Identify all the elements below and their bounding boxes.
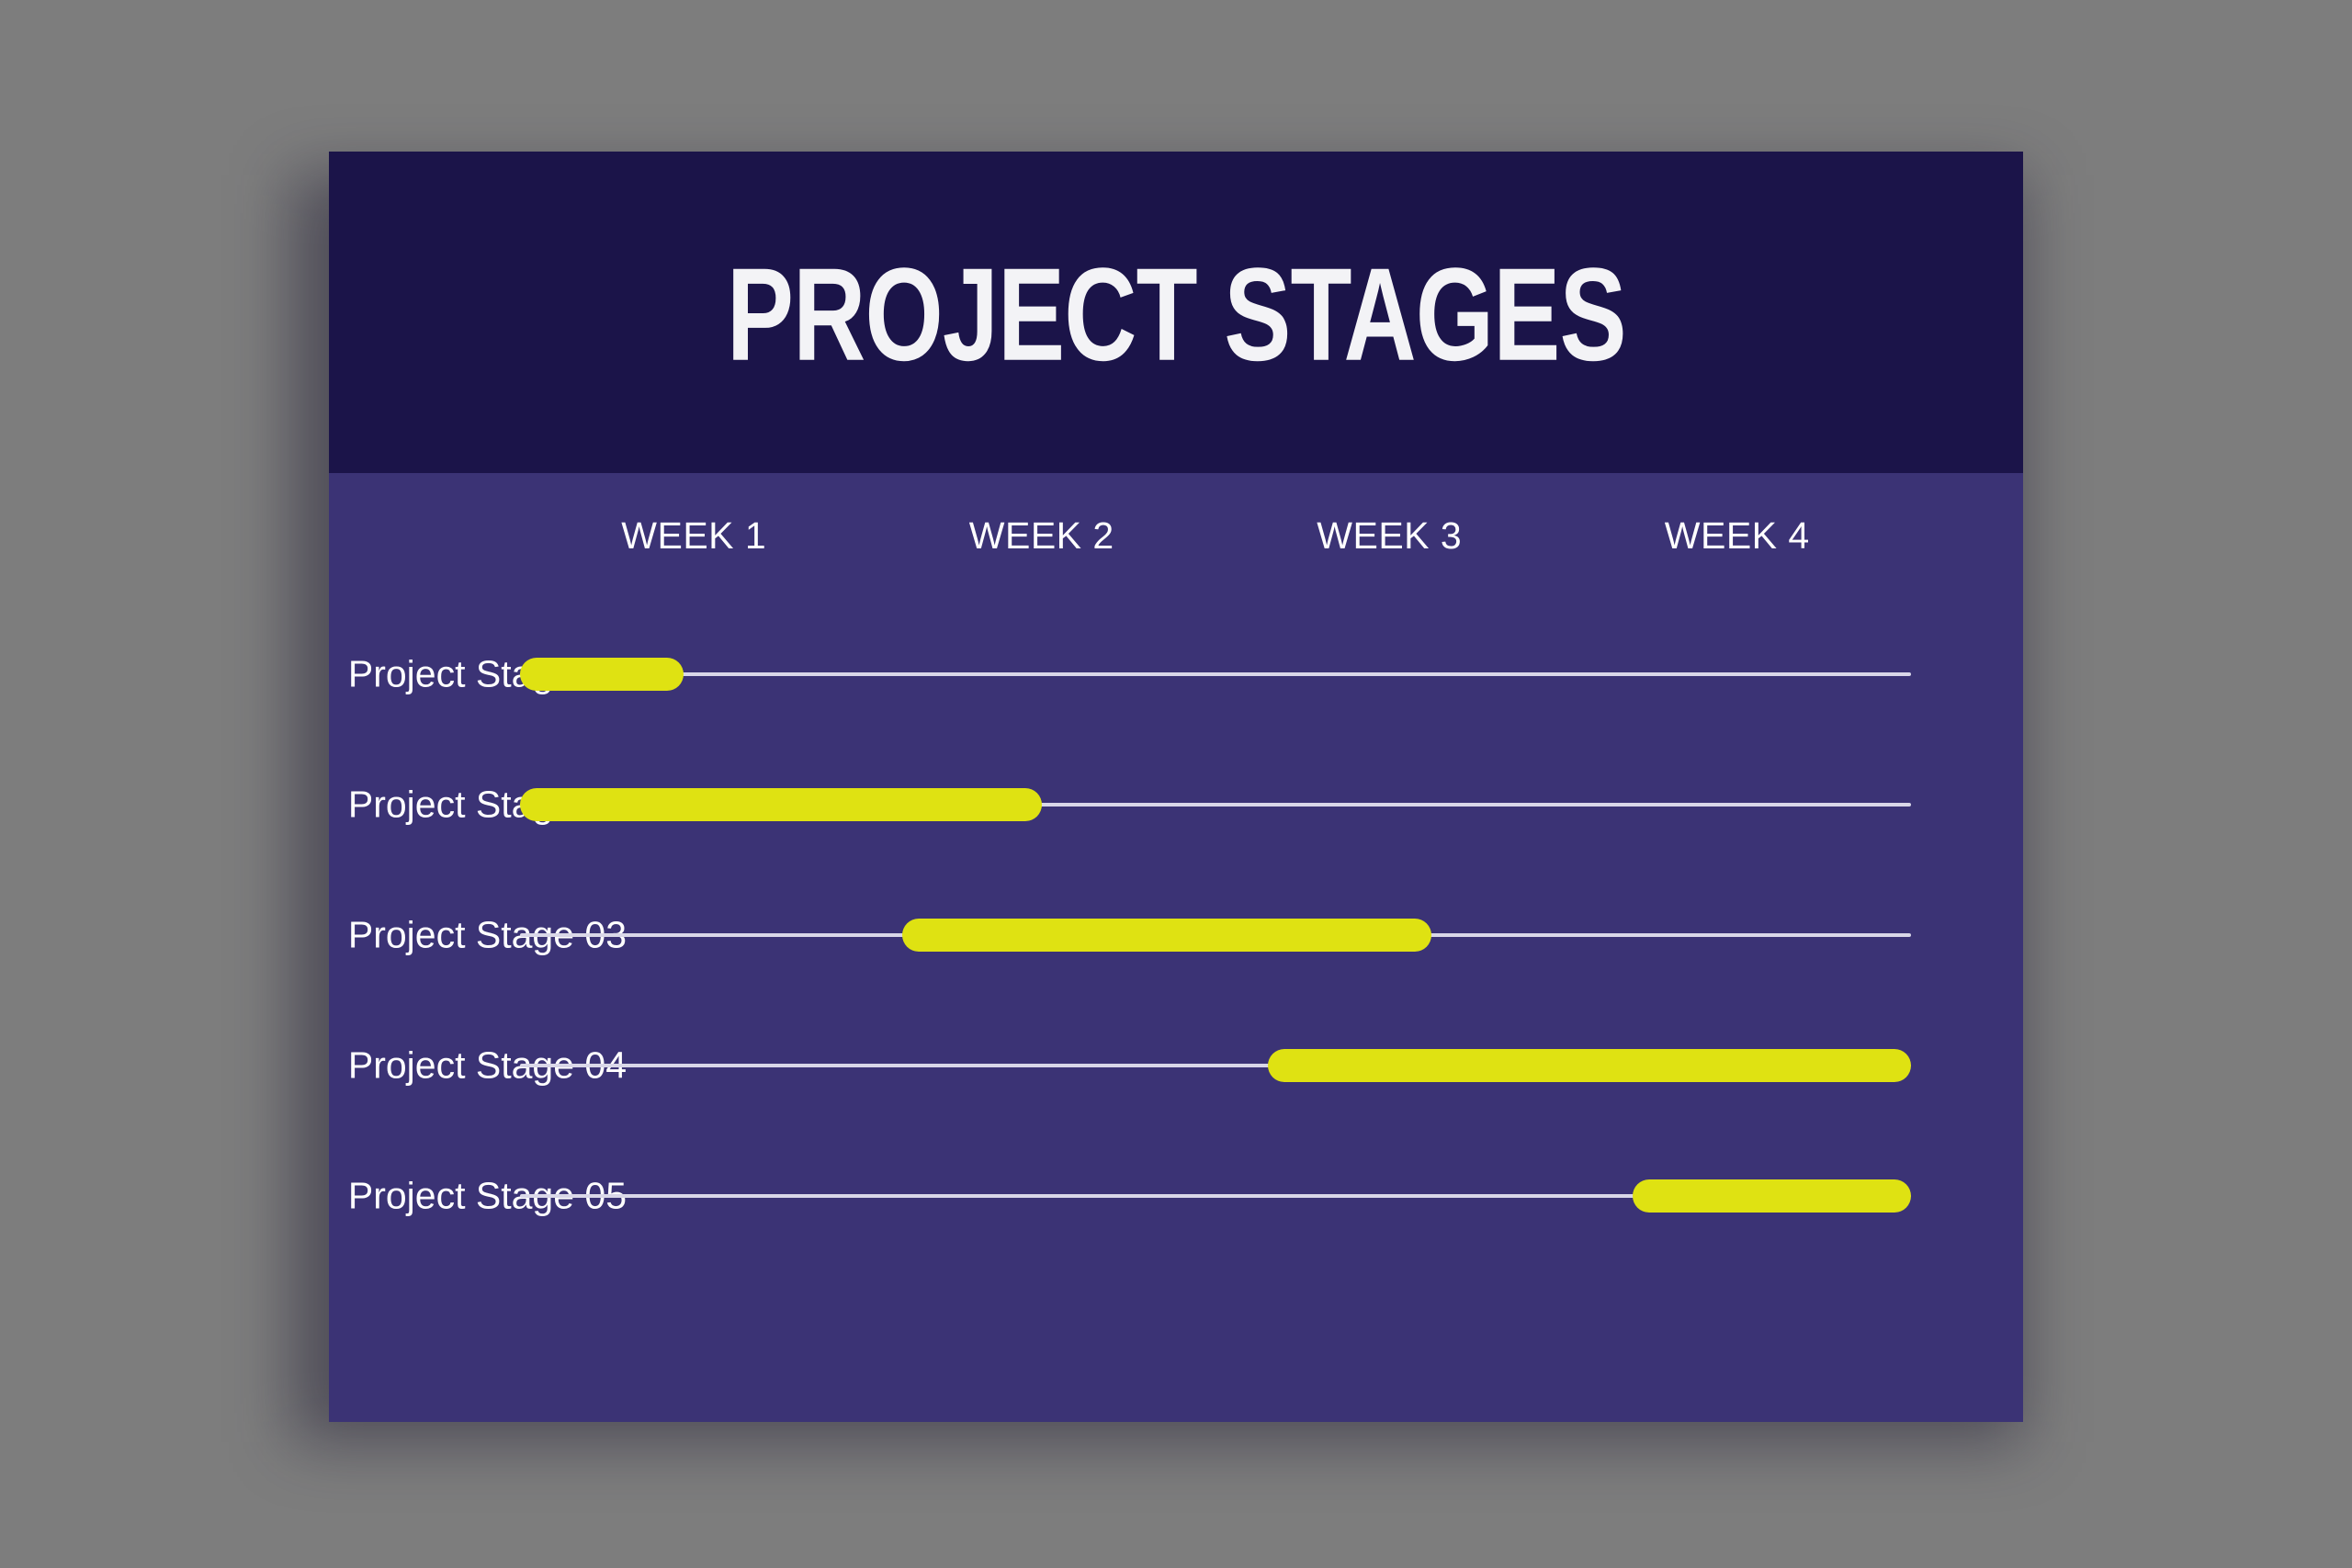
screenshot-canvas: PROJECT STAGES WEEK 1 WEEK 2 WEEK 3 WEEK… [0, 0, 2352, 1568]
week-label-2: WEEK 2 [969, 517, 1114, 555]
track-area-01 [520, 609, 1911, 739]
stage-bar-04[interactable] [1268, 1049, 1911, 1082]
week-label-4: WEEK 4 [1665, 517, 1810, 555]
week-label-1: WEEK 1 [621, 517, 766, 555]
table-row: Project Stage 05 [329, 1131, 2023, 1261]
stage-bar-02[interactable] [520, 788, 1042, 821]
page-title: PROJECT STAGES [727, 249, 1626, 381]
week-header-row: WEEK 1 WEEK 2 WEEK 3 WEEK 4 [329, 473, 2023, 620]
project-stages-card: PROJECT STAGES WEEK 1 WEEK 2 WEEK 3 WEEK… [329, 152, 2023, 1422]
card-header: PROJECT STAGES [329, 152, 2023, 473]
stage-bar-03[interactable] [902, 919, 1430, 952]
table-row: Project Stage 01 [329, 609, 2023, 739]
track-area-03 [520, 870, 1911, 1000]
week-label-3: WEEK 3 [1317, 517, 1462, 555]
track-area-04 [520, 1000, 1911, 1131]
stage-rows: Project Stage 01 Project Stage 02 Projec… [329, 609, 2023, 1261]
stage-bar-05[interactable] [1633, 1179, 1911, 1213]
track-area-05 [520, 1131, 1911, 1261]
stage-bar-01[interactable] [520, 658, 684, 691]
table-row: Project Stage 04 [329, 1000, 2023, 1131]
gantt-chart: WEEK 1 WEEK 2 WEEK 3 WEEK 4 Project Stag… [329, 473, 2023, 1422]
table-row: Project Stage 03 [329, 870, 2023, 1000]
table-row: Project Stage 02 [329, 739, 2023, 870]
track-line-01 [520, 672, 1911, 676]
track-area-02 [520, 739, 1911, 870]
